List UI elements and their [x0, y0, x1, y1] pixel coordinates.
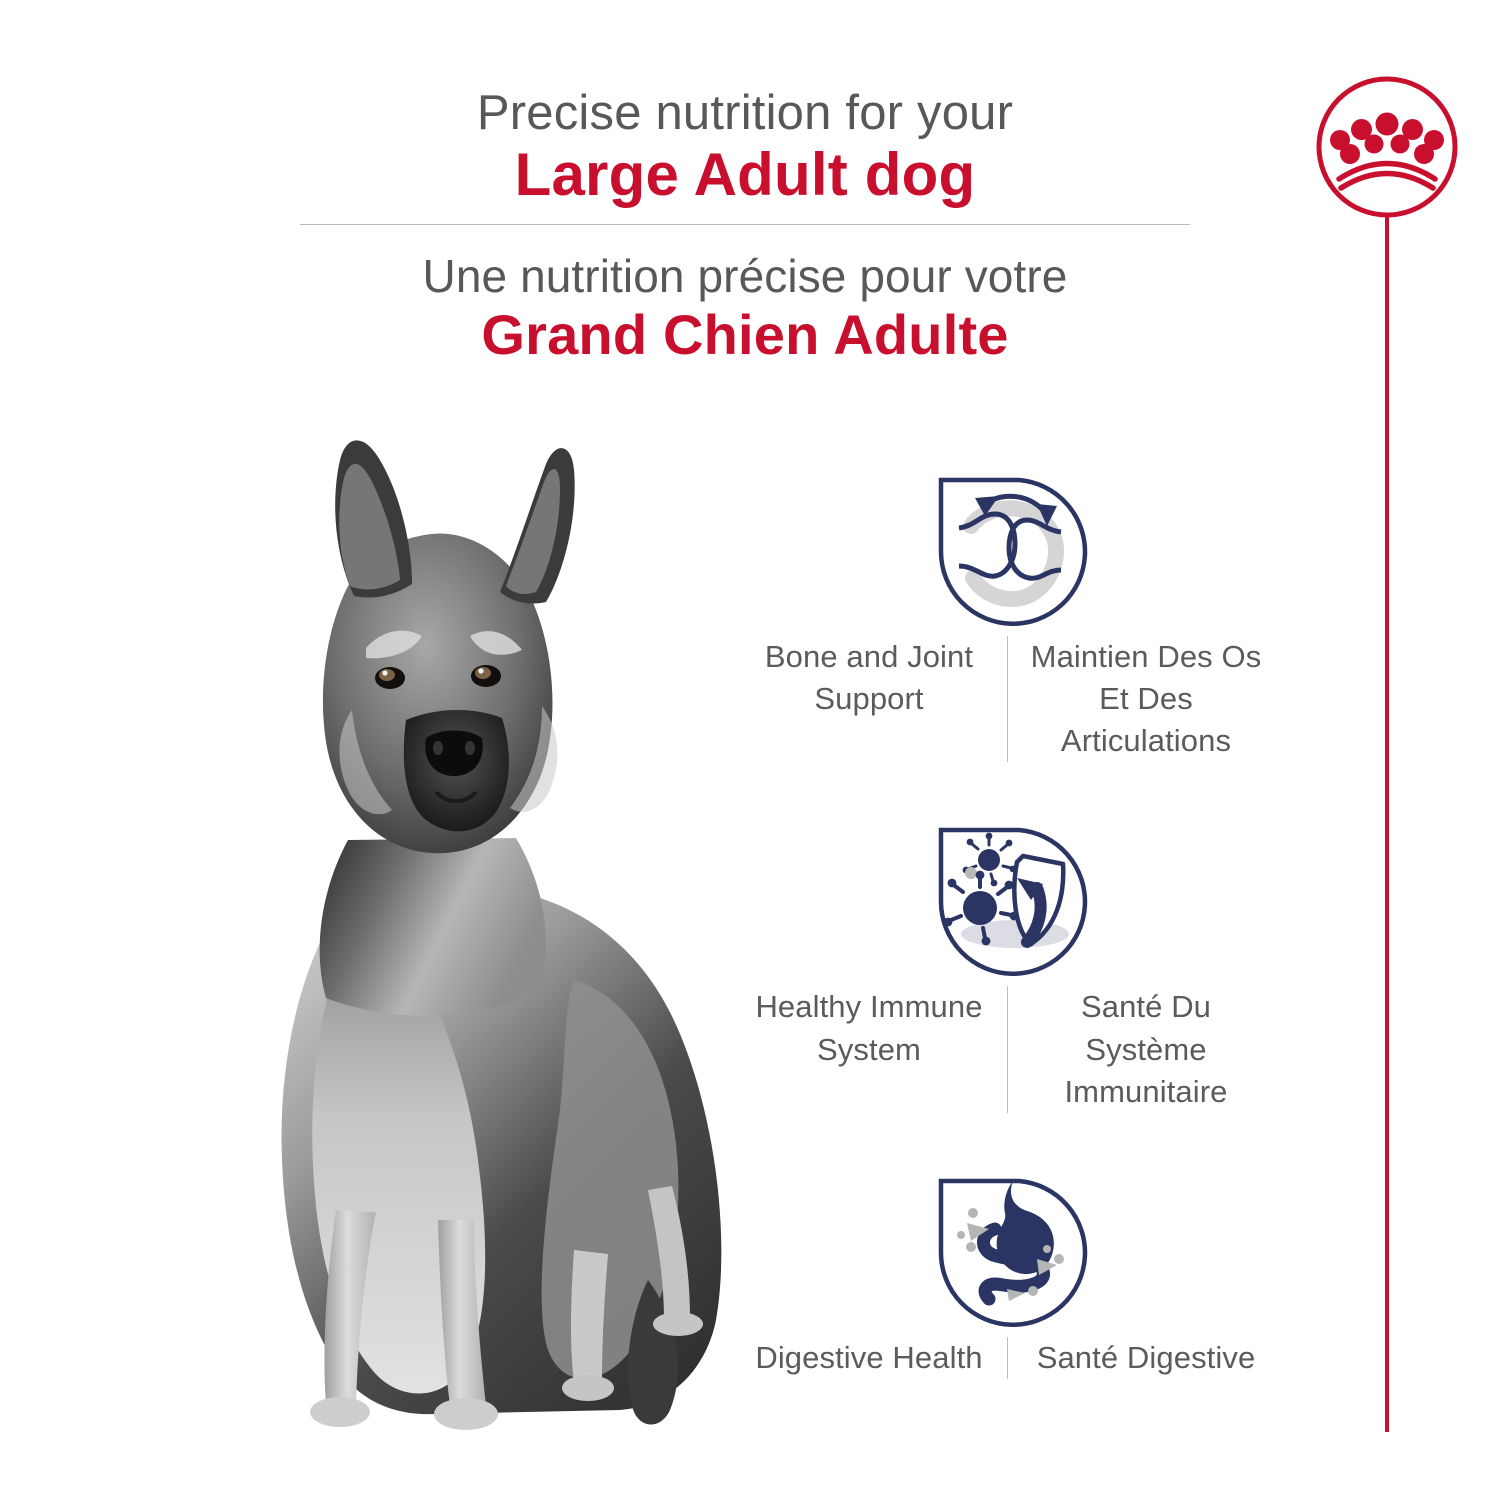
benefit-item: Bone and Joint Support Maintien Des Os E… [735, 466, 1280, 762]
german-shepherd-dog-photo [150, 420, 790, 1440]
dog-eye-right-glint [478, 668, 483, 673]
benefit-icon-wrap [735, 1167, 1280, 1327]
healthy-immune-system-icon [923, 816, 1093, 976]
benefit-label-fr: Santé Digestive [1008, 1337, 1266, 1379]
french-title: Grand Chien Adulte [300, 301, 1190, 368]
dog-eye-left-iris [379, 669, 395, 681]
benefit-labels: Healthy Immune System Santé Du Système I… [735, 986, 1280, 1112]
brand-mark [1312, 72, 1462, 1442]
benefits-list: Bone and Joint Support Maintien Des Os E… [735, 466, 1280, 1379]
dog-eye-right-iris [475, 667, 491, 679]
header-divider [300, 224, 1190, 225]
benefit-item: Healthy Immune System Santé Du Système I… [735, 816, 1280, 1112]
benefit-icon-wrap [735, 466, 1280, 626]
benefit-label-fr: Maintien Des Os Et Des Articulations [1008, 636, 1266, 762]
benefit-label-fr: Santé Du Système Immunitaire [1008, 986, 1266, 1112]
dog-eye-left-glint [382, 670, 387, 675]
digestive-health-icon [923, 1167, 1093, 1327]
dog-paw-3 [562, 1375, 614, 1401]
benefit-label-en: Healthy Immune System [749, 986, 1007, 1070]
benefit-labels: Bone and Joint Support Maintien Des Os E… [735, 636, 1280, 762]
dog-neck-ruff [320, 838, 546, 1016]
header-block: Precise nutrition for your Large Adult d… [300, 88, 1190, 369]
product-benefits-panel: Precise nutrition for your Large Adult d… [0, 0, 1500, 1500]
english-subtitle: Precise nutrition for your [300, 88, 1190, 140]
dog-paw-2 [434, 1398, 498, 1430]
bone-and-joint-icon [923, 466, 1093, 626]
germ-dot [965, 867, 977, 879]
french-subtitle: Une nutrition précise pour votre [300, 251, 1190, 302]
benefit-icon-wrap [735, 816, 1280, 976]
benefit-label-en: Bone and Joint Support [749, 636, 1007, 720]
benefit-label-en: Digestive Health [749, 1337, 1007, 1379]
dog-paw-1 [310, 1397, 370, 1427]
dog-nostril-right [465, 741, 475, 755]
benefit-item: Digestive Health Santé Digestive [735, 1167, 1280, 1379]
dog-paw-4 [653, 1312, 703, 1336]
english-title: Large Adult dog [300, 140, 1190, 211]
benefit-labels: Digestive Health Santé Digestive [735, 1337, 1280, 1379]
dog-nostril-left [433, 741, 443, 755]
